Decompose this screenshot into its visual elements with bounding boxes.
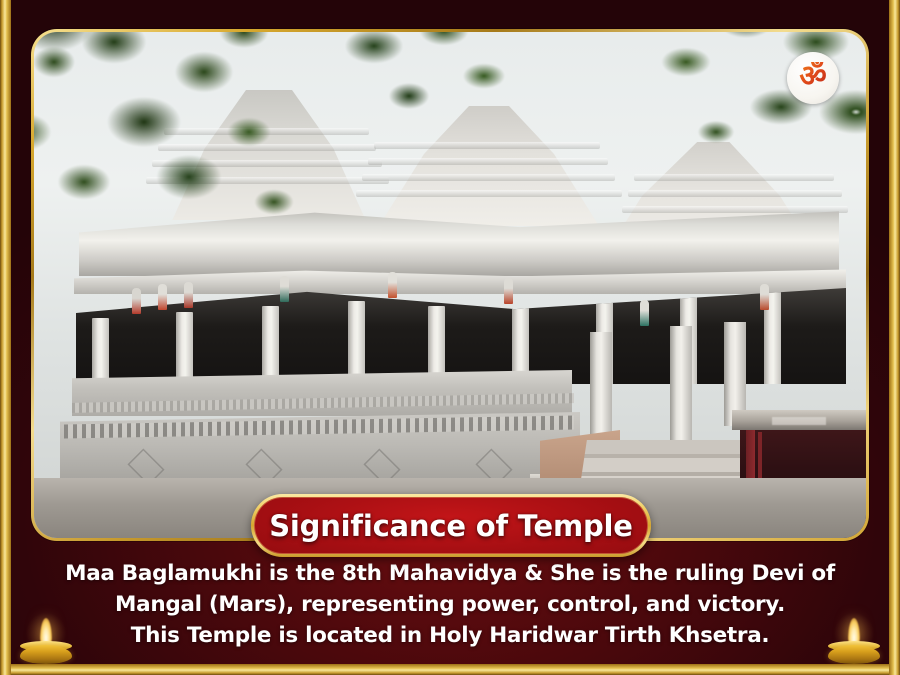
title-pill-inner: Significance of Temple xyxy=(254,497,648,554)
page-title: Significance of Temple xyxy=(269,509,633,543)
diya-lamp-left xyxy=(14,608,78,664)
carved-figure xyxy=(504,278,513,304)
tree-foliage-center xyxy=(314,32,524,156)
carved-figure xyxy=(388,272,397,298)
poster-root: ॐ Significance of Temple Maa Baglamukhi … xyxy=(0,0,900,675)
kiosk-signboard xyxy=(772,417,826,425)
diya-bowl xyxy=(828,645,880,664)
title-pill: Significance of Temple xyxy=(251,494,651,557)
caption-line-3: This Temple is located in Holy Haridwar … xyxy=(36,620,864,651)
temple-column xyxy=(670,326,692,444)
caption-block: Maa Baglamukhi is the 8th Mahavidya & Sh… xyxy=(0,558,900,651)
carved-figure xyxy=(640,300,649,326)
frame-border-top xyxy=(0,0,900,11)
diya-bowl xyxy=(20,645,72,664)
temple-photo: ॐ xyxy=(34,32,866,538)
frame-border-bottom xyxy=(0,664,900,675)
tree-foliage-left xyxy=(34,32,324,302)
temple-photo-frame: ॐ xyxy=(31,29,869,541)
carved-figure xyxy=(760,284,769,310)
om-icon: ॐ xyxy=(799,62,826,92)
diya-lamp-right xyxy=(822,608,886,664)
brand-logo-badge[interactable]: ॐ xyxy=(787,52,839,104)
temple-column xyxy=(92,318,109,388)
caption-line-1: Maa Baglamukhi is the 8th Mahavidya & Sh… xyxy=(36,558,864,589)
caption-line-2: Mangal (Mars), representing power, contr… xyxy=(36,589,864,620)
